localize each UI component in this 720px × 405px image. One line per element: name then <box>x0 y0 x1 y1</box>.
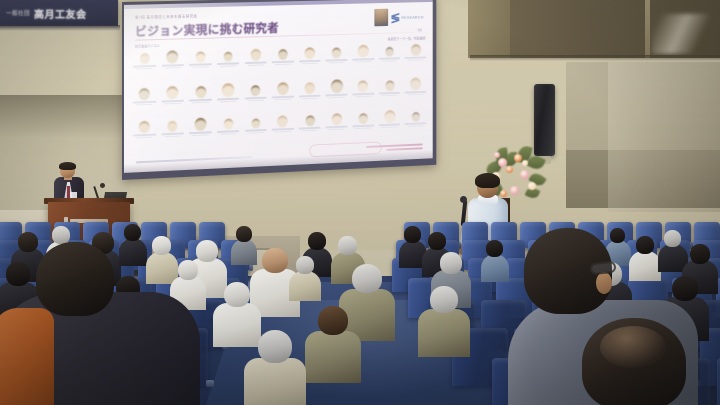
audience-member-head <box>440 252 462 274</box>
audience-member-torso <box>289 271 321 301</box>
audience-member-head <box>152 236 171 255</box>
audience-member-head <box>296 256 314 274</box>
audience-member-head <box>352 264 382 293</box>
audience-member-torso <box>119 238 147 266</box>
audience-member-head <box>672 276 698 301</box>
audience-member-head <box>338 236 357 255</box>
audience-member-head <box>610 228 625 243</box>
foreground-attendee-bottom-scalp <box>600 326 666 368</box>
audience-member-head <box>258 330 292 363</box>
audience-member-head <box>690 244 710 264</box>
auditorium-photo: Conference presentation in a university … <box>0 0 720 405</box>
audience-member-head <box>664 230 681 247</box>
audience-member-torso <box>418 309 470 357</box>
audience-member-head <box>428 232 446 250</box>
audience-member-head <box>236 226 252 242</box>
audience-member-head <box>430 286 458 313</box>
audience-member-torso <box>231 239 257 265</box>
audience-member-head <box>308 232 326 250</box>
audience-member-head <box>404 226 421 243</box>
audience-member-torso <box>305 331 361 383</box>
audience-member-head <box>178 260 198 280</box>
foreground-attendee-ear <box>596 272 612 294</box>
audience-member-head <box>196 240 218 262</box>
audience-member-head <box>124 224 141 241</box>
audience-member-torso <box>244 358 306 405</box>
audience-member-head <box>18 232 38 252</box>
audience-member-torso <box>629 251 661 281</box>
audience-member-head <box>6 262 30 286</box>
audience-member-torso <box>481 254 509 282</box>
audience-member-head <box>52 226 70 244</box>
audience-member-head <box>636 236 654 254</box>
foreground-attendee-left-head <box>36 242 114 316</box>
audience-member-head <box>262 248 288 273</box>
foreground-attendee-orange-jacket <box>0 308 54 405</box>
audience-member-head <box>318 306 348 335</box>
audience-member-torso <box>213 303 261 347</box>
audience-member-head <box>224 282 250 307</box>
audience-member-torso <box>146 252 178 284</box>
audience-member-head <box>486 240 503 257</box>
